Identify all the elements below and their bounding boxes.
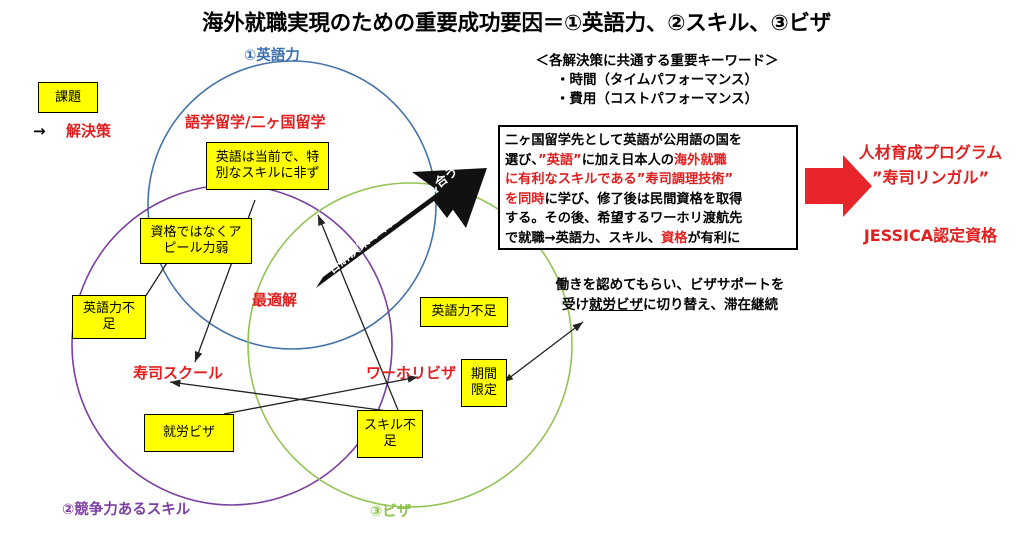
keywords-block: ＜各解決策に共通する重要キーワード＞ ・時間（タイムパフォーマンス） ・費用（コ… xyxy=(482,52,832,109)
keyword-item-cost: ・費用（コストパフォーマンス） xyxy=(482,90,832,109)
program-name: 人材育成プログラム ”寿司リンガル” xyxy=(828,140,1033,190)
outcome-box: 二ヶ国留学先として英語が公用語の国を選び、”英語”に加え日本人の海外就職に有利な… xyxy=(498,125,798,250)
solution-study-abroad: 語学留学/二ヶ国留学 xyxy=(185,111,325,132)
outcome-text: 日本人の xyxy=(621,153,674,168)
outcome-text: に学び、修了後は民間資格を取得 xyxy=(545,192,743,207)
outcome-line-5: で就職→英語力、スキル、資格が有利に xyxy=(505,229,791,249)
outcome-text: する。その後、希望するワーホリ渡航先 xyxy=(505,211,742,226)
page-title: 海外就職実現のための重要成功要因＝①英語力、②スキル、③ビザ xyxy=(0,6,1033,37)
outcome-highlight: 資格 xyxy=(661,231,687,246)
outcome-line-4: する。その後、希望するワーホリ渡航先 xyxy=(505,209,791,229)
legend-solution-label: 解決策 xyxy=(66,120,111,141)
visa-support-line2-a: 受け xyxy=(562,297,589,313)
legend-arrow-glyph: → xyxy=(33,122,46,140)
outcome-highlight: ”英語” xyxy=(538,153,582,168)
visa-support-line2: 受け就労ビザに切り替え、滞在継続 xyxy=(505,295,835,315)
outcome-line-3: を同時に学び、修了後は民間資格を取得 xyxy=(505,190,791,210)
visa-support-underlined: 就労ビザ xyxy=(589,297,643,313)
keyword-item-time: ・時間（タイムパフォーマンス） xyxy=(482,71,832,90)
outcome-text: 選び、 xyxy=(505,153,538,168)
issue-box-english-not-special: 英語は当前で、特別なスキルに非ず xyxy=(206,142,329,190)
outcome-text: が有利に xyxy=(688,231,741,246)
legend-issue-box: 課題 xyxy=(38,82,98,113)
program-line1: 人材育成プログラム xyxy=(828,140,1033,165)
outcome-line-1: 選び、”英語”に加え日本人の海外就職 xyxy=(505,151,791,171)
solution-working-holiday: ワーホリビザ xyxy=(366,362,456,383)
keywords-heading: ＜各解決策に共通する重要キーワード＞ xyxy=(482,52,832,71)
complement-arrow-label: 各解決策の不足を補完し合う xyxy=(322,161,461,277)
outcome-highlight: ”寿司調理技術” xyxy=(637,172,733,187)
outcome-line-2: に有利なスキルである”寿司調理技術” xyxy=(505,170,791,190)
visa-support-line2-b: に切り替え、滞在継続 xyxy=(643,297,778,313)
visa-support-text: 働きを認めてもらい、ビザサポートを 受け就労ビザに切り替え、滞在継続 xyxy=(505,275,835,315)
outcome-highlight: 海外就職 xyxy=(674,153,727,168)
program-line2: ”寿司リンガル” xyxy=(828,165,1033,190)
diagram-canvas: 海外就職実現のための重要成功要因＝①英語力、②スキル、③ビザ 課題 → 解決策 … xyxy=(0,0,1033,538)
issue-box-weak-appeal: 資格ではなくアピール力弱 xyxy=(140,218,252,264)
issue-box-time-limited: 期間限定 xyxy=(461,359,507,407)
issue-box-english-lack-right: 英語力不足 xyxy=(420,297,508,327)
certification-label: JESSICA認定資格 xyxy=(828,222,1033,246)
outcome-text: 二ヶ国留学先として英語が公用語の国を xyxy=(505,133,742,148)
outcome-text: で就職→英語力、スキル、 xyxy=(505,231,661,246)
outcome-highlight: に有利なスキルである xyxy=(505,172,637,187)
outcome-highlight: を同時 xyxy=(505,192,545,207)
solution-optimal: 最適解 xyxy=(252,289,297,310)
outcome-text: に加え xyxy=(582,153,622,168)
issue-box-work-visa: 就労ビザ xyxy=(144,414,234,452)
visa-support-line1: 働きを認めてもらい、ビザサポートを xyxy=(505,275,835,295)
issue-box-english-lack-left: 英語力不足 xyxy=(72,295,146,339)
solution-sushi-school: 寿司スクール xyxy=(133,362,223,383)
circle-label-visa: ③ビザ xyxy=(370,500,411,521)
issue-box-skill-lack: スキル不足 xyxy=(357,410,423,458)
circle-label-skill: ②競争力あるスキル xyxy=(62,498,190,519)
outcome-line-0: 二ヶ国留学先として英語が公用語の国を xyxy=(505,131,791,151)
circle-label-english: ①英語力 xyxy=(244,44,300,65)
